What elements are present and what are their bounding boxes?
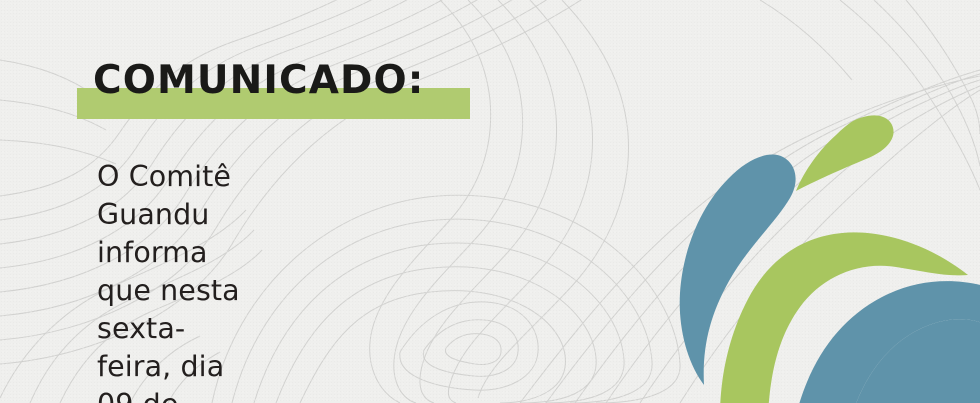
comunicado-banner: COMUNICADO: O Comitê Guandu informa que …	[0, 0, 980, 403]
comite-guandu-logo	[620, 85, 980, 403]
logo-green-small-leaf-shape	[796, 115, 894, 191]
announcement-body-text: O Comitê Guandu informa que nesta sexta-…	[97, 158, 250, 403]
headline-highlight-bar: COMUNICADO:	[77, 88, 470, 119]
page-title: COMUNICADO:	[93, 61, 424, 100]
